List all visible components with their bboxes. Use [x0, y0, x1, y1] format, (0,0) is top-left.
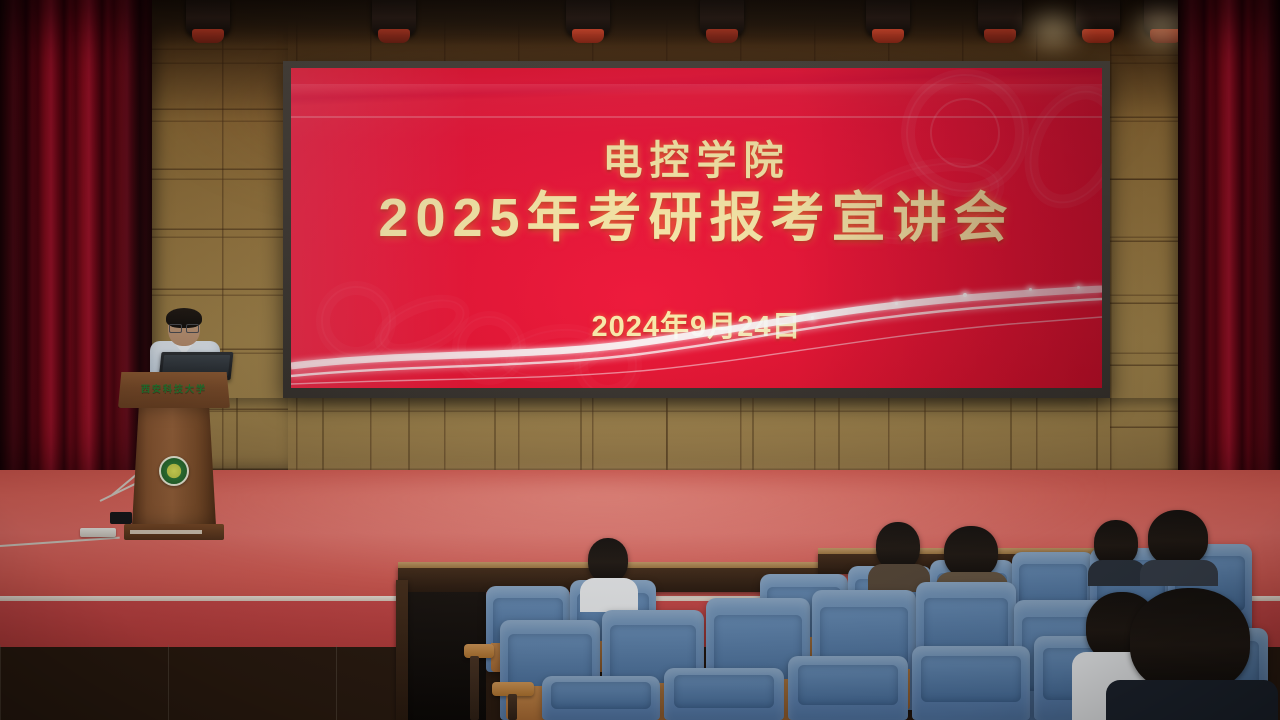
- led-screen-frame: 电控学院 2025年考研报考宣讲会 2024年9月24日: [283, 61, 1110, 398]
- university-crest-icon: [159, 456, 189, 486]
- stage-curtain-right: [1178, 0, 1280, 520]
- seat-support-rail-2: [508, 694, 517, 720]
- auditorium-photo: 电控学院 2025年考研报考宣讲会 2024年9月24日: [0, 0, 1280, 720]
- person-shoulders: [1106, 680, 1278, 720]
- stage-light-6: [978, 0, 1022, 36]
- seat-armrest-1: [464, 644, 494, 658]
- person-head: [1130, 588, 1250, 692]
- person-shoulders: [1140, 560, 1218, 586]
- seat-r3-c1: [542, 676, 660, 720]
- person-head: [876, 522, 920, 570]
- curtain-shading-right: [1178, 0, 1280, 520]
- seat-cushion: [551, 682, 650, 709]
- seat-r3-c4: [912, 646, 1030, 720]
- person-head: [944, 526, 998, 578]
- seat-cushion: [921, 656, 1020, 702]
- person-head: [1148, 510, 1208, 566]
- led-screen: 电控学院 2025年考研报考宣讲会 2024年9月24日: [291, 68, 1102, 388]
- stage-light-4: [700, 0, 744, 36]
- audience-person-1: [586, 538, 630, 608]
- glasses-icon: [169, 324, 199, 331]
- screen-vignette: [291, 68, 1102, 388]
- stage-light-1: [186, 0, 230, 36]
- person-shoulders: [580, 578, 638, 612]
- audience-person-4: [1094, 520, 1140, 578]
- stage-light-3: [566, 0, 610, 36]
- audience-person-2: [876, 522, 922, 582]
- seat-r3-c3: [788, 656, 908, 720]
- stage-light-2: [372, 0, 416, 36]
- audience-person-7: [1130, 588, 1254, 720]
- person-shoulders: [1088, 560, 1146, 586]
- seat-r3-c2: [664, 668, 784, 720]
- seat-cushion: [674, 675, 775, 707]
- podium-university-label: 西安科技大学: [118, 382, 230, 395]
- audience-person-3: [944, 526, 1000, 586]
- podium: 西安科技大学: [118, 372, 230, 544]
- doorframe: [396, 580, 408, 720]
- seat-support-rail-1: [470, 656, 479, 720]
- audience-person-5: [1148, 510, 1210, 576]
- person-head: [588, 538, 628, 582]
- stage-light-5: [866, 0, 910, 36]
- light-glow-3: [1018, 4, 1088, 59]
- podium-base: [124, 524, 224, 540]
- seat-cushion: [798, 665, 899, 705]
- power-strip: [80, 528, 116, 537]
